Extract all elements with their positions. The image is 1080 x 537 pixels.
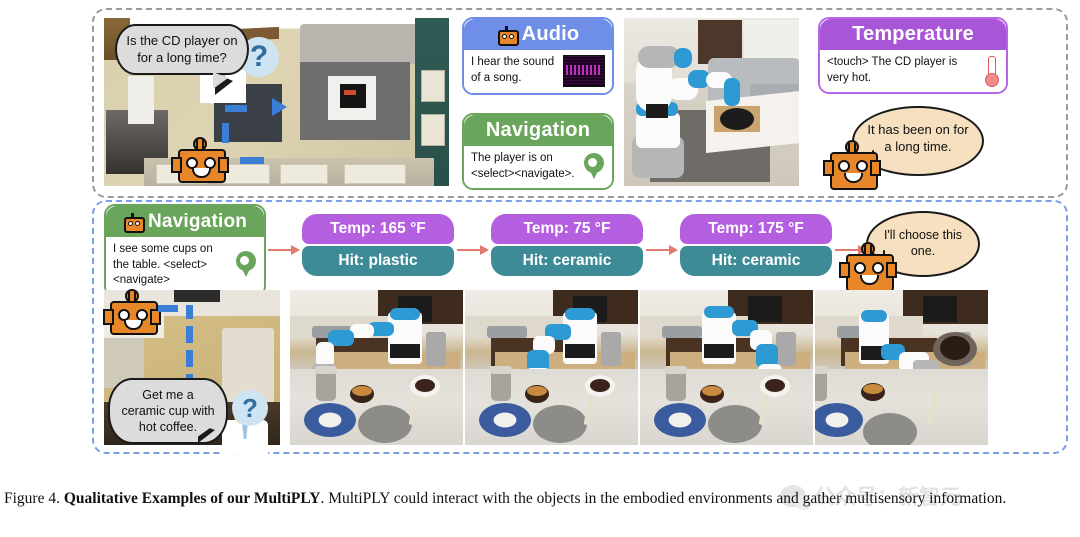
robot-eye-left <box>838 160 850 172</box>
robot-eye-right <box>872 262 884 274</box>
scene-fridge <box>128 76 154 124</box>
scene-window-pane <box>421 114 445 146</box>
navigation-card-bottom-body: I see some cups on the table. <select> <… <box>106 237 264 295</box>
bubble-tail-fill <box>196 423 210 438</box>
nav-path-dash <box>186 326 193 343</box>
robot-ear-right <box>886 262 897 278</box>
figure-caption: Figure 4. Qualitative Examples of our Mu… <box>4 487 1076 510</box>
kitchen-frame-2 <box>465 290 638 445</box>
audio-card-body: I hear the sound of a song. <box>464 50 612 93</box>
navigation-card-bottom-text: I see some cups on the table. <select> <… <box>113 242 229 289</box>
scene-sofa <box>300 24 418 64</box>
caption-bold: Qualitative Examples of our MultiPLY <box>64 490 321 507</box>
robot-arm <box>624 40 734 180</box>
step-1-temp: Temp: 165 °F <box>302 214 454 244</box>
kitchen-frame-4 <box>815 290 988 445</box>
robot-head-icon <box>497 26 517 44</box>
question-bubble-icon: ? <box>232 390 268 426</box>
robot-arm-livingroom-photo <box>624 18 799 186</box>
navigation-card-text: The player is on <select><navigate>. <box>471 151 577 182</box>
temperature-card-body: <touch> The CD player is very hot. <box>820 50 1006 92</box>
robot-ear-left <box>103 309 114 325</box>
robot-avatar-icon <box>172 140 228 180</box>
scene-cd-player <box>340 84 366 108</box>
navigation-card-bottom-title: Navigation <box>148 211 247 233</box>
navigation-card-bottom: Navigation I see some cups on the table.… <box>104 204 266 297</box>
navigation-card-body: The player is on <select><navigate>. <box>464 146 612 188</box>
nav-path-dash <box>225 105 247 112</box>
kitchen-frame-1 <box>290 290 463 445</box>
temperature-card-header: Temperature <box>820 19 1006 50</box>
robot-head-icon <box>123 213 143 231</box>
robot-avatar-icon-top <box>824 143 880 187</box>
robot-ear-left <box>839 262 850 278</box>
temperature-card-title: Temperature <box>852 23 974 46</box>
nav-path-dash <box>186 350 193 367</box>
robot-avatar-icon-scene <box>104 292 160 332</box>
robot-ear-left <box>823 160 834 176</box>
robot-ear-right <box>218 157 229 173</box>
scene-mat <box>344 164 406 184</box>
nav-path-dash <box>240 157 264 164</box>
caption-prefix: Figure 4. <box>4 490 60 507</box>
scene-window-pane <box>421 70 445 102</box>
audio-card: Audio I hear the sound of a song. <box>462 17 614 95</box>
map-pin-icon <box>583 153 605 181</box>
thermometer-icon <box>983 56 999 86</box>
caption-rest: . MultiPLY could interact with the objec… <box>320 490 1006 507</box>
flow-arrow-2 <box>457 244 489 256</box>
robot-ear-left <box>171 157 182 173</box>
audio-spectrogram-icon <box>563 55 605 87</box>
step-1-hit: Hit: plastic <box>302 246 454 276</box>
robot-eye-right <box>856 160 868 172</box>
step-3-temp: Temp: 175 °F <box>680 214 832 244</box>
temperature-card: Temperature <touch> The CD player is ver… <box>818 17 1008 94</box>
robot-eye-left <box>854 262 866 274</box>
flow-arrow-1 <box>268 244 300 256</box>
step-3-hit: Hit: ceramic <box>680 246 832 276</box>
step-2-hit: Hit: ceramic <box>491 246 643 276</box>
scene-mat <box>280 164 328 184</box>
flow-arrow-3 <box>646 244 678 256</box>
navigation-card-header: Navigation <box>464 115 612 146</box>
scene-mat <box>222 164 270 184</box>
step-pill-3: Temp: 175 °F Hit: ceramic <box>680 214 832 276</box>
bubble-tail-fill <box>213 72 228 89</box>
map-pin-icon <box>235 251 257 279</box>
audio-card-text: I hear the sound of a song. <box>471 55 557 86</box>
step-pill-1: Temp: 165 °F Hit: plastic <box>302 214 454 276</box>
audio-card-header: Audio <box>464 19 612 50</box>
kitchen-frame-3 <box>640 290 813 445</box>
audio-card-title: Audio <box>522 23 580 46</box>
nav-path-dash <box>186 305 193 319</box>
navigate-arrow-icon <box>272 98 287 116</box>
nav-path-dash <box>158 305 178 312</box>
step-pill-2: Temp: 75 °F Hit: ceramic <box>491 214 643 276</box>
navigation-card-top: Navigation The player is on <select><nav… <box>462 113 614 190</box>
navigation-card-title: Navigation <box>486 119 590 142</box>
scene-stove <box>174 290 220 302</box>
temperature-card-text: <touch> The CD player is very hot. <box>827 55 977 86</box>
navigation-card-bottom-header: Navigation <box>106 206 264 237</box>
robot-avatar-icon-bottom <box>840 245 896 289</box>
robot-ear-right <box>870 160 881 176</box>
step-2-temp: Temp: 75 °F <box>491 214 643 244</box>
user-speech-bubble-top: Is the CD player on for a long time? <box>115 24 249 75</box>
